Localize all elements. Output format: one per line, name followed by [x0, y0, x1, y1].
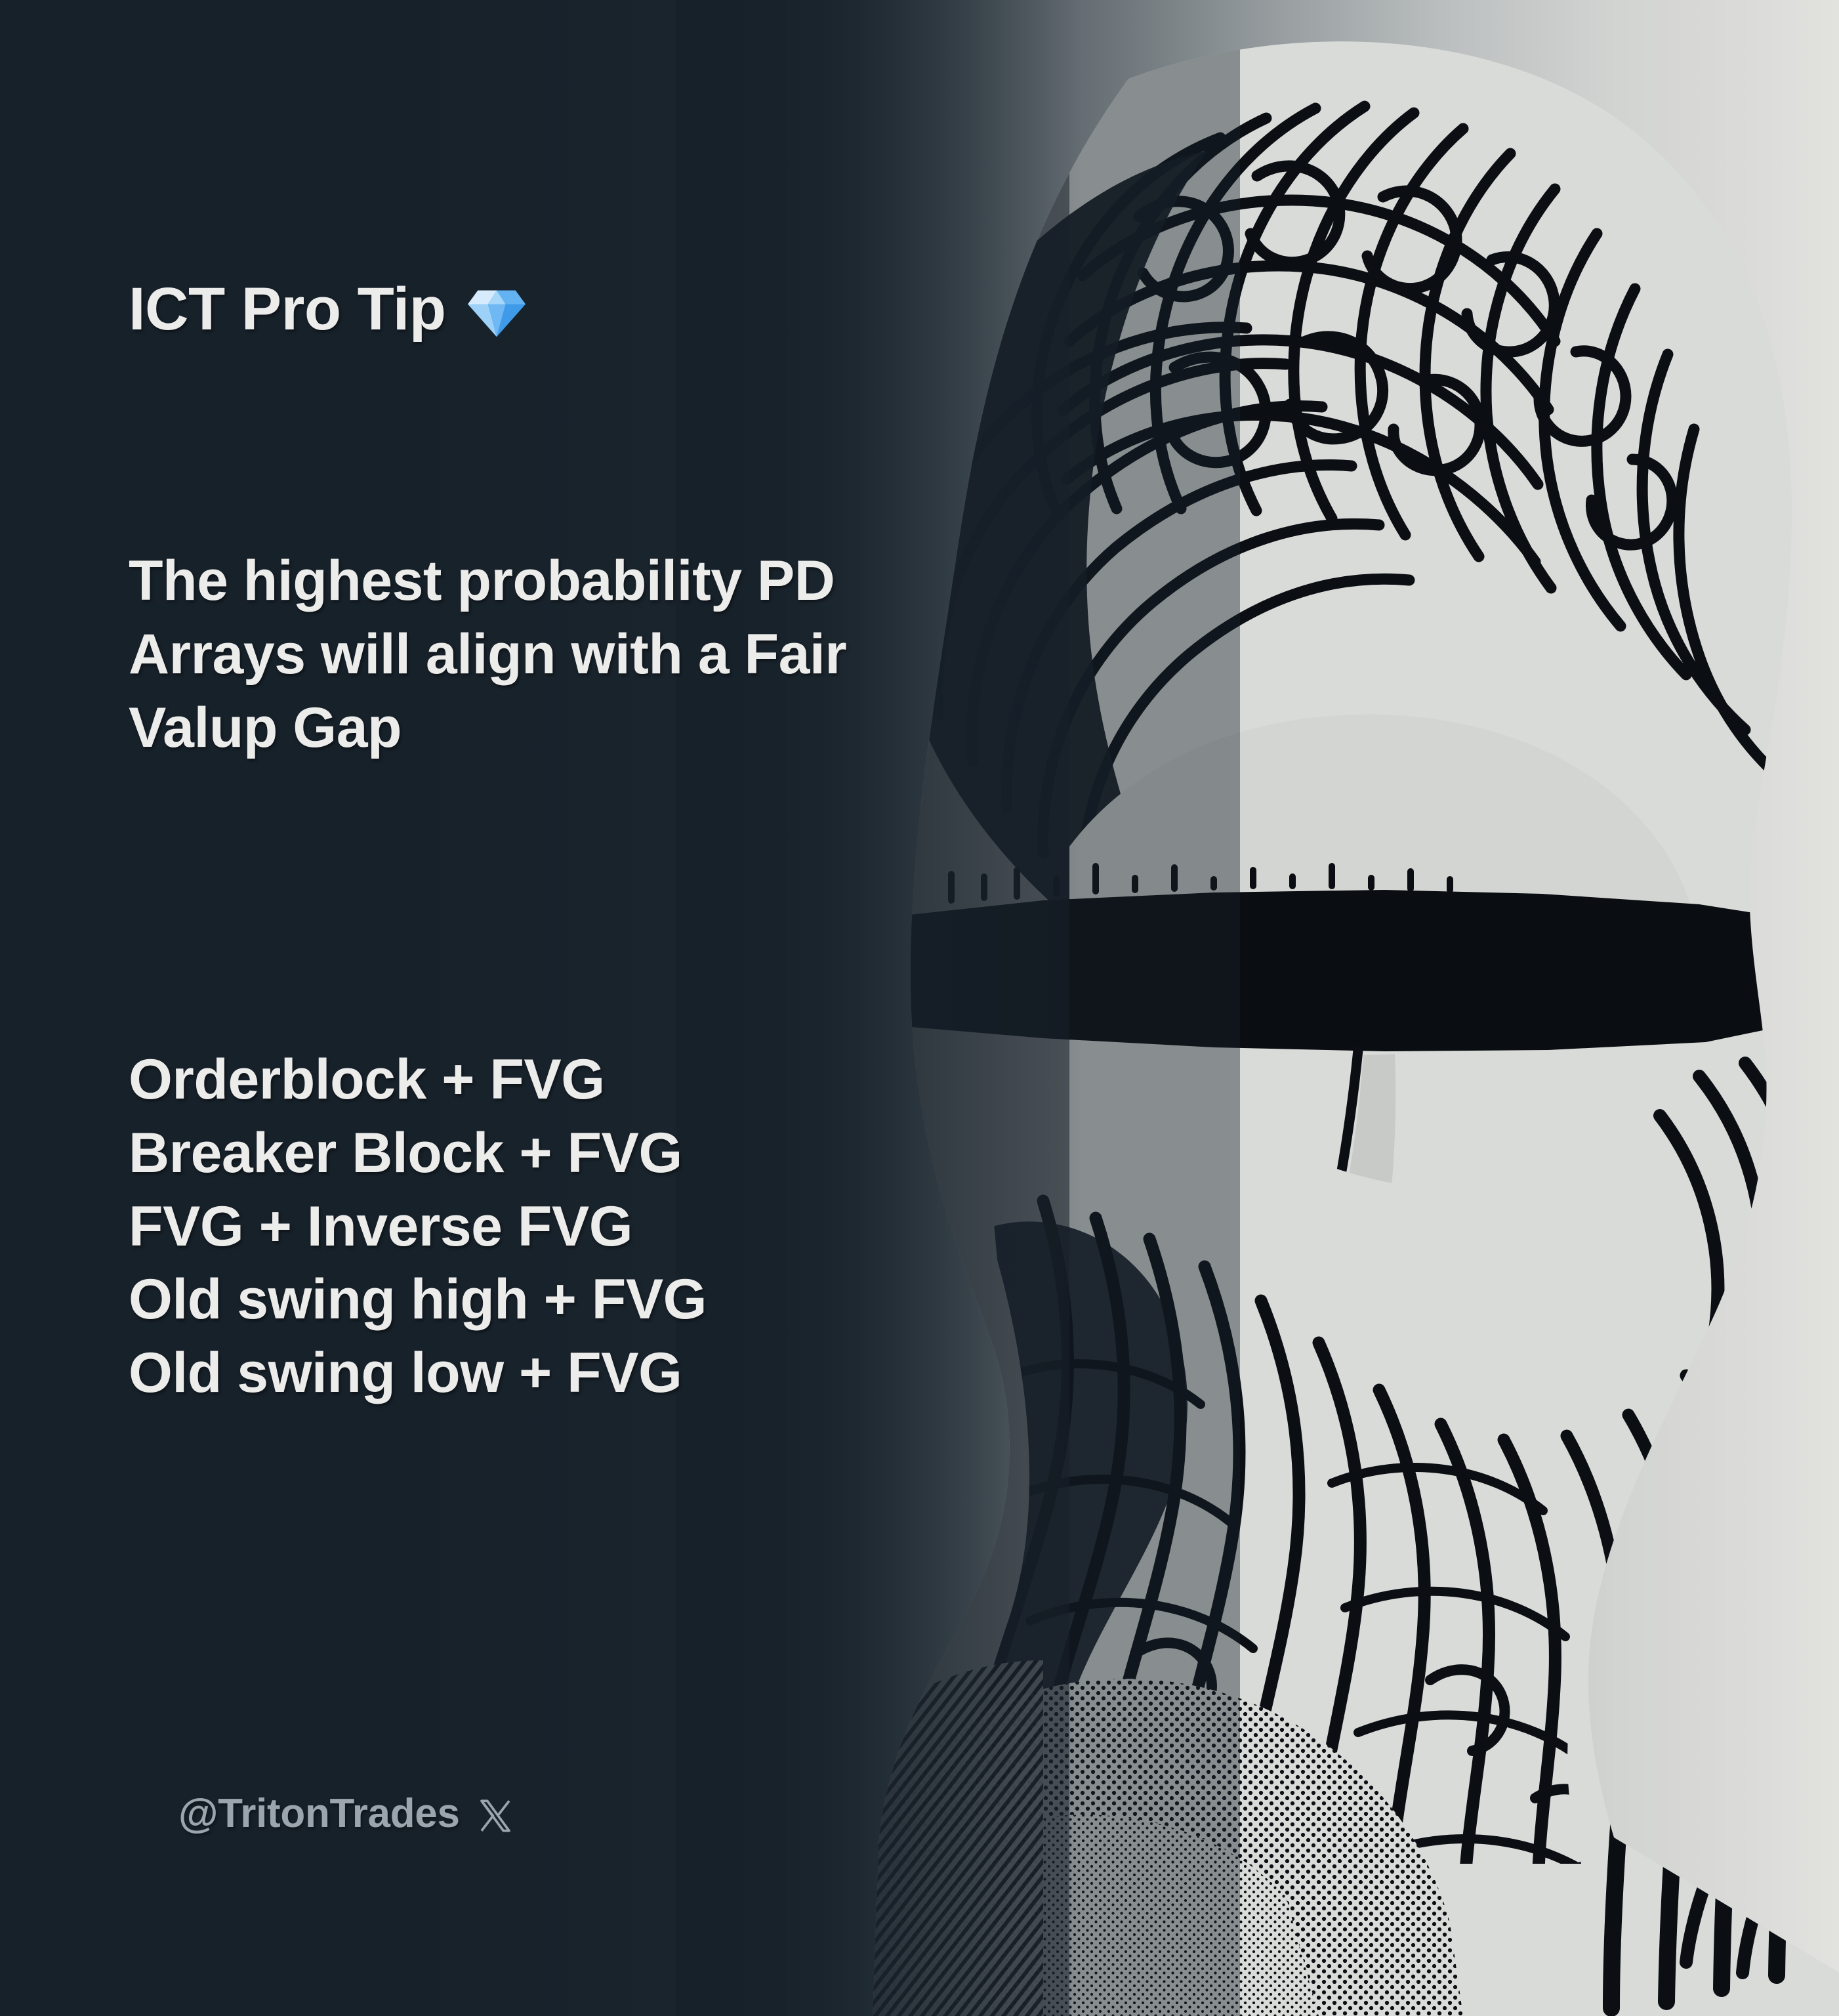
list-item: Old swing high + FVG [129, 1263, 707, 1337]
pd-array-list: Orderblock + FVG Breaker Block + FVG FVG… [129, 1043, 707, 1410]
lead-line-2: Arrays will align with a Fair [129, 618, 846, 692]
lead-paragraph: The highest probability PD Arrays will a… [129, 545, 846, 765]
page-title-text: ICT Pro Tip [129, 279, 445, 339]
page-title: ICT Pro Tip [129, 279, 528, 339]
lead-line-1: The highest probability PD [129, 545, 846, 618]
x-logo-icon [477, 1797, 514, 1834]
list-item: Orderblock + FVG [129, 1043, 707, 1117]
poster-canvas: ICT Pro Tip The highest probability PD A… [0, 0, 1839, 2016]
list-item: Old swing low + FVG [129, 1337, 707, 1410]
list-item: Breaker Block + FVG [129, 1117, 707, 1190]
text-column: ICT Pro Tip The highest probability PD A… [0, 0, 1050, 2016]
author-handle-text: @TritonTrades [178, 1790, 460, 1837]
gem-stone-icon [465, 284, 528, 339]
author-handle[interactable]: @TritonTrades [178, 1790, 514, 1837]
lead-line-3: Valup Gap [129, 692, 846, 765]
list-item: FVG + Inverse FVG [129, 1190, 707, 1264]
